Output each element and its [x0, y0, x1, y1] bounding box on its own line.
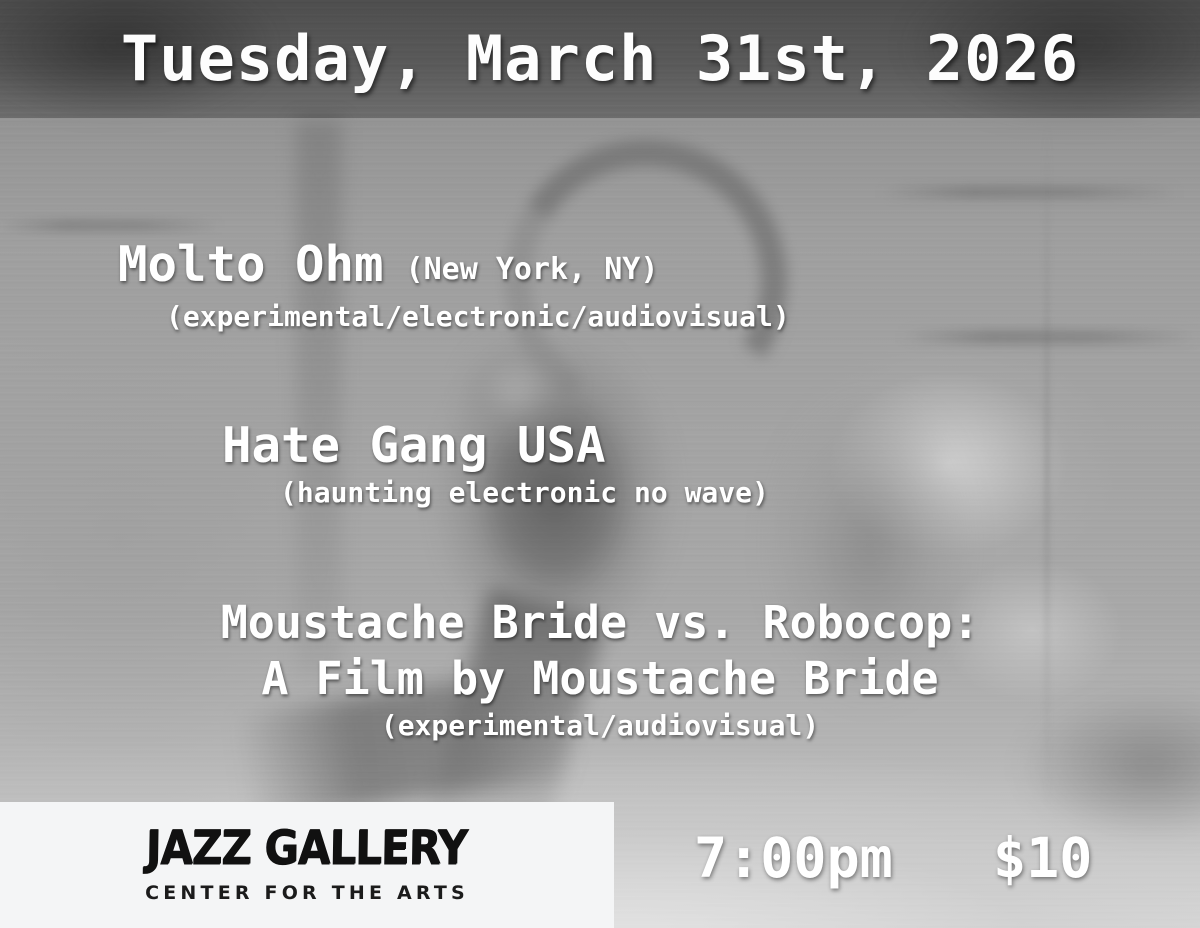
- event-price: $10: [993, 826, 1092, 890]
- lineup-item-hate-gang-usa: Hate Gang USA (haunting electronic no wa…: [0, 417, 1200, 511]
- act-name-row: Molto Ohm(New York, NY): [118, 236, 1200, 299]
- venue-logo-panel: JAZZ GALLERY CENTER FOR THE ARTS: [0, 802, 614, 928]
- lineup-item-molto-ohm: Molto Ohm(New York, NY) (experimental/el…: [0, 236, 1200, 335]
- lineup-item-moustache-bride: Moustache Bride vs. Robocop: A Film by M…: [0, 595, 1200, 745]
- act-name: Molto Ohm: [118, 236, 384, 293]
- act-genre: (experimental/electronic/audiovisual): [118, 299, 1200, 335]
- event-date: Tuesday, March 31st, 2026: [0, 22, 1200, 95]
- act-city: (New York, NY): [384, 252, 659, 287]
- lineup-list: Molto Ohm(New York, NY) (experimental/el…: [0, 236, 1200, 745]
- act-name: Moustache Bride vs. Robocop:: [0, 595, 1200, 651]
- act-name: Hate Gang USA: [222, 417, 606, 474]
- act-name-row: Hate Gang USA: [222, 417, 1200, 475]
- venue-tagline: CENTER FOR THE ARTS: [145, 882, 469, 904]
- act-subtitle: A Film by Moustache Bride: [0, 651, 1200, 707]
- act-genre: (experimental/audiovisual): [0, 707, 1200, 745]
- venue-wordmark: JAZZ GALLERY: [146, 823, 468, 872]
- act-genre: (haunting electronic no wave): [222, 475, 1200, 511]
- event-flyer: Tuesday, March 31st, 2026 Molto Ohm(New …: [0, 0, 1200, 928]
- event-time: 7:00pm: [694, 826, 893, 890]
